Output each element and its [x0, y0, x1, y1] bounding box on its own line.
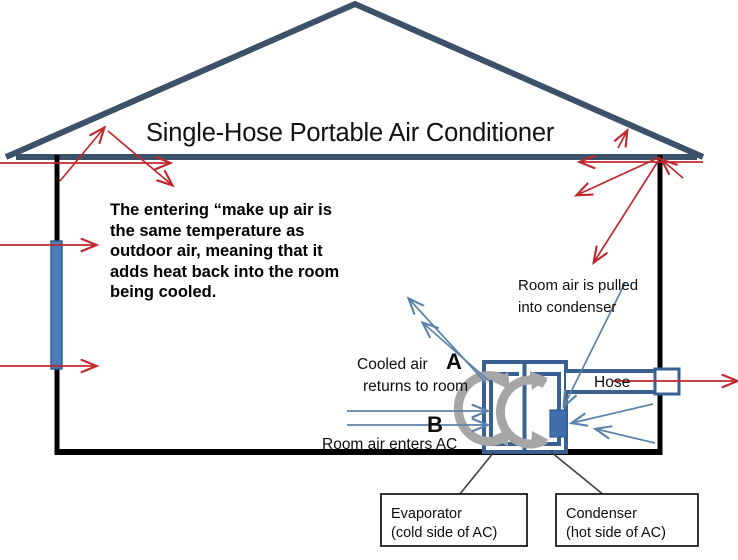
cooled-air-line-2: returns to room — [357, 376, 468, 398]
red-arrow-roof-right-up — [618, 131, 627, 148]
diagram-canvas: Single-Hose Portable Air Conditioner The… — [0, 0, 738, 560]
blue-arrow-condenser-in-3 — [596, 429, 655, 443]
label-b: B — [427, 412, 443, 438]
label-a: A — [446, 349, 462, 375]
hose-label: Hose — [594, 374, 630, 392]
makeup-air-annotation: The entering “make up air is the same te… — [110, 200, 339, 303]
condenser-callout-label: Condenser (hot side of AC) — [566, 505, 666, 543]
room-air-pulled-annotation: Room air is pulled into condenser — [518, 275, 638, 319]
room-air-enters-annotation: Room air enters AC — [322, 436, 457, 454]
red-arrow-roof-left-up — [60, 128, 104, 181]
blue-arrow-condenser-in-2 — [572, 404, 653, 423]
red-arrow-right-corner-down-long — [594, 158, 660, 262]
cooled-air-line-1: Cooled air — [357, 356, 428, 373]
page-title: Single-Hose Portable Air Conditioner — [146, 119, 554, 148]
evaporator-callout-label: Evaporator (cold side of AC) — [391, 505, 497, 543]
